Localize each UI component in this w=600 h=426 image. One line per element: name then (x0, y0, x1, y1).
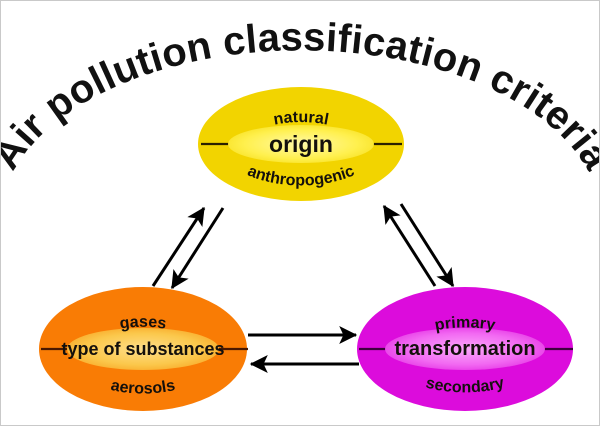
transformation-node[interactable]: primary transformation secondary (357, 287, 573, 411)
diagram-canvas: Air pollution classification criteria na… (1, 1, 600, 426)
type-of-substances-node-center-label: type of substances (61, 339, 224, 359)
origin-node-center-label: origin (269, 131, 333, 157)
arrow-substances-to-origin (153, 208, 204, 286)
air-pollution-classification-diagram: Air pollution classification criteria na… (0, 0, 600, 426)
transformation-node-center-label: transformation (394, 338, 535, 360)
origin-node[interactable]: natural origin anthropogenic (198, 87, 404, 201)
type-of-substances-node[interactable]: gases type of substances aerosols (39, 287, 248, 411)
type-of-substances-node-top-label: gases (119, 314, 168, 333)
origin-node-top-label: natural (272, 109, 330, 129)
